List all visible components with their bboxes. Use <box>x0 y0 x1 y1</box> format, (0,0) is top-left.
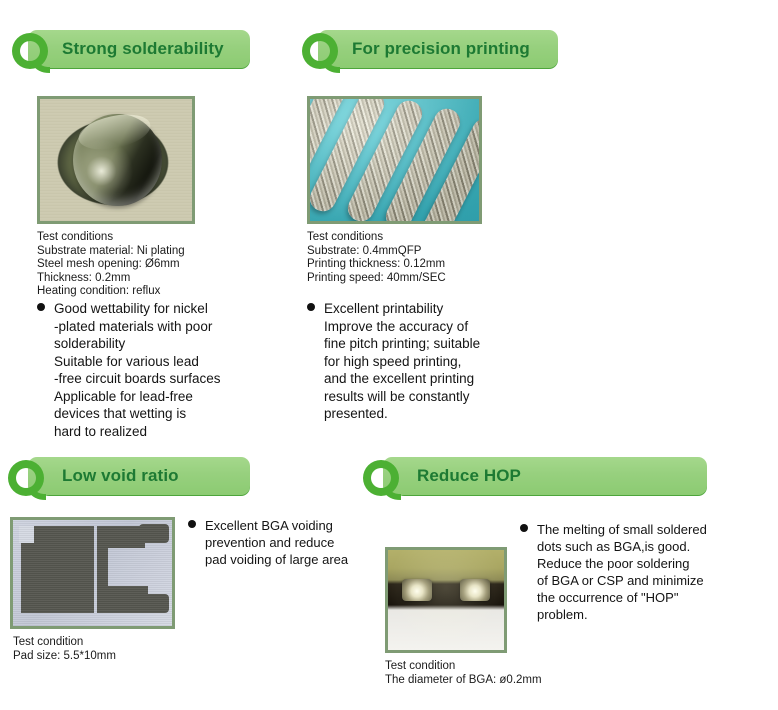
feature-bullet: The melting of small soldered dots such … <box>520 521 770 623</box>
test-conditions: Test conditions Substrate: 0.4mmQFP Prin… <box>307 231 557 285</box>
panel-title: Reduce HOP <box>417 466 521 486</box>
q-ring-icon <box>4 457 48 501</box>
panel-banner: Reduce HOP <box>355 455 775 501</box>
bullet-dot-icon <box>520 524 528 532</box>
test-conditions: Test condition Pad size: 5.5*10mm <box>13 636 263 663</box>
q-ring-icon <box>359 457 403 501</box>
feature-bullet: Excellent printability Improve the accur… <box>307 300 597 423</box>
test-conditions: Test condition The diameter of BGA: ø0.2… <box>385 660 645 687</box>
panel-reduce-hop: Reduce HOP The melting of small soldered… <box>355 455 775 501</box>
bullet-text: Good wettability for nickel -plated mate… <box>37 300 337 440</box>
panel-title: For precision printing <box>352 39 530 59</box>
test-conditions: Test conditions Substrate material: Ni p… <box>37 231 287 299</box>
photo-solder-ball <box>37 96 195 224</box>
q-ring-icon <box>298 30 342 74</box>
bullet-text: Excellent BGA voiding prevention and red… <box>188 517 388 568</box>
bullet-text: The melting of small soldered dots such … <box>520 521 770 623</box>
feature-bullet: Good wettability for nickel -plated mate… <box>37 300 337 440</box>
photo-fine-pitch-print <box>307 96 482 224</box>
photo-bga-pad-void <box>10 517 175 629</box>
bullet-dot-icon <box>307 303 315 311</box>
panel-title: Strong solderability <box>62 39 224 59</box>
bullet-dot-icon <box>37 303 45 311</box>
panel-for-precision-printing: For precision printing Test conditions S… <box>290 28 690 74</box>
q-ring-icon <box>8 30 52 74</box>
panel-title: Low void ratio <box>62 466 179 486</box>
photo-bga-cross-section <box>385 547 507 653</box>
panel-banner: Low void ratio <box>0 455 380 501</box>
panel-banner: For precision printing <box>290 28 690 74</box>
bullet-text: Excellent printability Improve the accur… <box>307 300 597 423</box>
bullet-dot-icon <box>188 520 196 528</box>
feature-bullet: Excellent BGA voiding prevention and red… <box>188 517 388 568</box>
panel-low-void-ratio: Low void ratio Excellent BGA voiding pre… <box>0 455 380 501</box>
